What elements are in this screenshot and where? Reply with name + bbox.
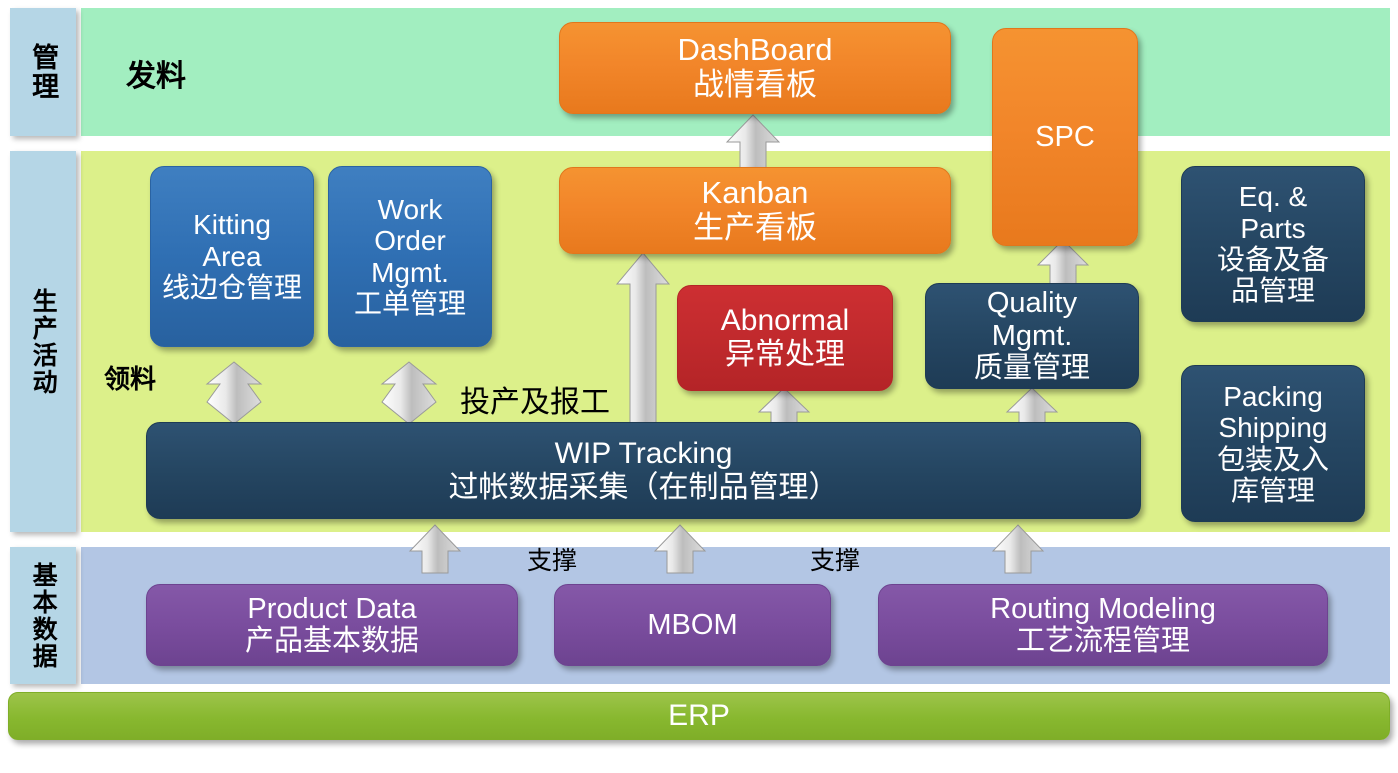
node-packing-cn1: 包装及入: [1217, 444, 1329, 475]
node-quality-cn: 质量管理: [974, 352, 1090, 384]
node-quality-en2: Mgmt.: [992, 320, 1073, 352]
issue-material-caption: 发料: [126, 51, 186, 95]
tier-label-basic-data-text: 基本数据: [30, 562, 56, 670]
node-kitting-area-cn: 线边仓管理: [162, 272, 302, 303]
tier-label-basic-data: 基本数据: [10, 547, 76, 684]
node-work-order-en1: Work: [378, 194, 443, 225]
arrow-kanban-to-dashboard: [722, 112, 784, 174]
arrow-wip-to-kanban: [612, 250, 674, 426]
node-product-data-cn: 产品基本数据: [245, 625, 419, 657]
node-dashboard[interactable]: DashBoard 战情看板: [559, 22, 951, 114]
node-spc-en: SPC: [1035, 121, 1095, 153]
node-equipment-en1: Eq. &: [1239, 181, 1307, 212]
node-routing-modeling[interactable]: Routing Modeling 工艺流程管理: [878, 584, 1328, 666]
tier-label-production-text: 生产活动: [30, 288, 56, 396]
node-equipment-en2: Parts: [1240, 213, 1305, 244]
node-packing-en1: Packing: [1223, 381, 1323, 412]
node-wip-en: WIP Tracking: [555, 437, 733, 471]
node-routing-en: Routing Modeling: [990, 593, 1216, 625]
pick-material-caption: 领料: [104, 359, 156, 396]
node-work-order-cn: 工单管理: [354, 288, 466, 319]
node-routing-cn: 工艺流程管理: [1016, 625, 1190, 657]
arrow-kitting-wip-bidirectional: [203, 360, 265, 426]
node-packing-en2: Shipping: [1219, 412, 1328, 443]
arrow-mbom-support: [651, 523, 709, 575]
node-work-order-en2: Order: [374, 225, 446, 256]
node-kanban-cn: 生产看板: [693, 211, 817, 246]
support-caption-right: 支撑: [810, 541, 860, 577]
node-spc[interactable]: SPC: [992, 28, 1138, 246]
support-caption-left: 支撑: [527, 541, 577, 577]
node-packing-shipping[interactable]: Packing Shipping 包装及入 库管理: [1181, 365, 1365, 522]
tier-label-management-text: 管理: [29, 43, 57, 101]
arrow-routing-support: [989, 523, 1047, 575]
node-abnormal-en: Abnormal: [721, 304, 849, 338]
node-quality-mgmt[interactable]: Quality Mgmt. 质量管理: [925, 283, 1139, 389]
node-erp[interactable]: ERP: [8, 692, 1390, 740]
node-kanban[interactable]: Kanban 生产看板: [559, 167, 951, 254]
node-dashboard-cn: 战情看板: [693, 68, 817, 103]
node-kitting-area-en2: Area: [202, 241, 261, 272]
arrow-product-data-support: [406, 523, 464, 575]
node-packing-cn2: 库管理: [1231, 475, 1315, 506]
tier-label-production: 生产活动: [10, 151, 76, 532]
node-kanban-en: Kanban: [702, 176, 809, 211]
node-work-order-en3: Mgmt.: [371, 257, 449, 288]
tier-label-management: 管理: [10, 8, 76, 136]
production-report-caption: 投产及报工: [460, 377, 610, 421]
node-abnormal[interactable]: Abnormal 异常处理: [677, 285, 893, 391]
node-product-data-en: Product Data: [247, 593, 416, 625]
node-quality-en1: Quality: [987, 287, 1077, 319]
node-work-order-mgmt[interactable]: Work Order Mgmt. 工单管理: [328, 166, 492, 347]
node-kitting-area[interactable]: Kitting Area 线边仓管理: [150, 166, 314, 347]
node-abnormal-cn: 异常处理: [725, 338, 845, 372]
arrow-workorder-wip-bidirectional: [378, 360, 440, 426]
node-equipment-parts[interactable]: Eq. & Parts 设备及备 品管理: [1181, 166, 1365, 322]
node-equipment-cn2: 品管理: [1231, 275, 1315, 306]
node-product-data[interactable]: Product Data 产品基本数据: [146, 584, 518, 666]
diagram-canvas: 管理 生产活动 基本数据: [0, 0, 1398, 773]
node-equipment-cn1: 设备及备: [1217, 244, 1329, 275]
node-kitting-area-en1: Kitting: [193, 209, 271, 240]
node-wip-tracking[interactable]: WIP Tracking 过帐数据采集（在制品管理）: [146, 422, 1141, 519]
node-mbom-en: MBOM: [647, 609, 737, 641]
node-erp-en: ERP: [668, 699, 730, 733]
node-dashboard-en: DashBoard: [677, 33, 832, 68]
node-mbom[interactable]: MBOM: [554, 584, 831, 666]
node-wip-cn: 过帐数据采集（在制品管理）: [449, 471, 839, 505]
